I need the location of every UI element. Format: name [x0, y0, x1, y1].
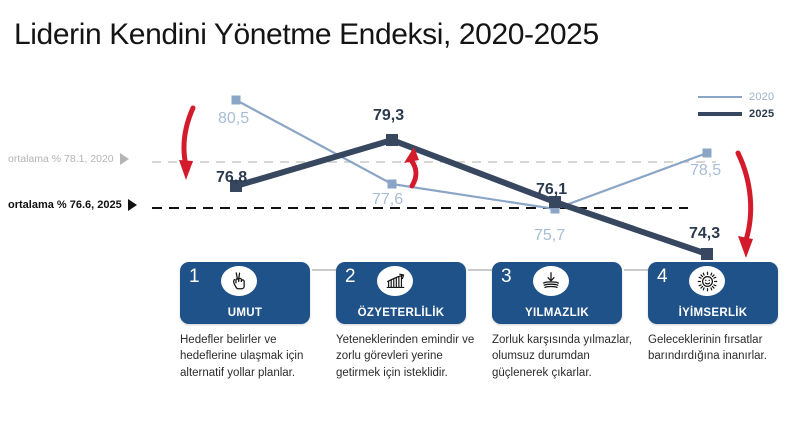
- growth-pillars-icon: [377, 266, 413, 296]
- smiling-sun-icon: [689, 266, 725, 296]
- card-umut[interactable]: 1 UMUT Hedefler belirler ve hedeflerine …: [180, 262, 328, 381]
- card-row: 1 UMUT Hedefler belirler ve hedeflerine …: [0, 262, 800, 422]
- card-ozyeterlilik-number: 2: [345, 267, 356, 286]
- card-ozyeterlilik[interactable]: 2 ÖZYETERLİLİK Yetenek: [336, 262, 484, 381]
- card-yilmazlik[interactable]: 3 YILMAZLIK Zorluk karşısında yılmazlar,…: [492, 262, 640, 381]
- card-ozyeterlilik-caption: ÖZYETERLİLİK: [336, 307, 466, 319]
- card-yilmazlik-caption: YILMAZLIK: [492, 307, 622, 319]
- card-ozyeterlilik-description: Yeteneklerinden emindir ve zorlu görevle…: [336, 332, 478, 381]
- card-umut-number: 1: [189, 267, 200, 286]
- card-umut-box[interactable]: 1 UMUT: [180, 262, 310, 324]
- card-iyimserlik[interactable]: 4: [648, 262, 796, 365]
- chart-page: Liderin Kendini Yönetme Endeksi, 2020-20…: [0, 0, 800, 422]
- card-iyimserlik-number: 4: [657, 267, 668, 286]
- card-ozyeterlilik-box[interactable]: 2 ÖZYETERLİLİK: [336, 262, 466, 324]
- card-umut-caption: UMUT: [180, 307, 310, 319]
- card-yilmazlik-description: Zorluk karşısında yılmazlar, olumsuz dur…: [492, 332, 634, 381]
- card-umut-description: Hedefler belirler ve hedeflerine ulaşmak…: [180, 332, 322, 381]
- card-yilmazlik-number: 3: [501, 267, 512, 286]
- card-iyimserlik-caption: İYİMSERLİK: [648, 307, 778, 319]
- crossed-fingers-icon: [221, 266, 257, 296]
- card-iyimserlik-description: Geleceklerinin fırsatlar barındırdığına …: [648, 332, 790, 365]
- card-iyimserlik-box[interactable]: 4: [648, 262, 778, 324]
- card-yilmazlik-box[interactable]: 3 YILMAZLIK: [492, 262, 622, 324]
- down-arrow-springs-icon: [533, 266, 569, 296]
